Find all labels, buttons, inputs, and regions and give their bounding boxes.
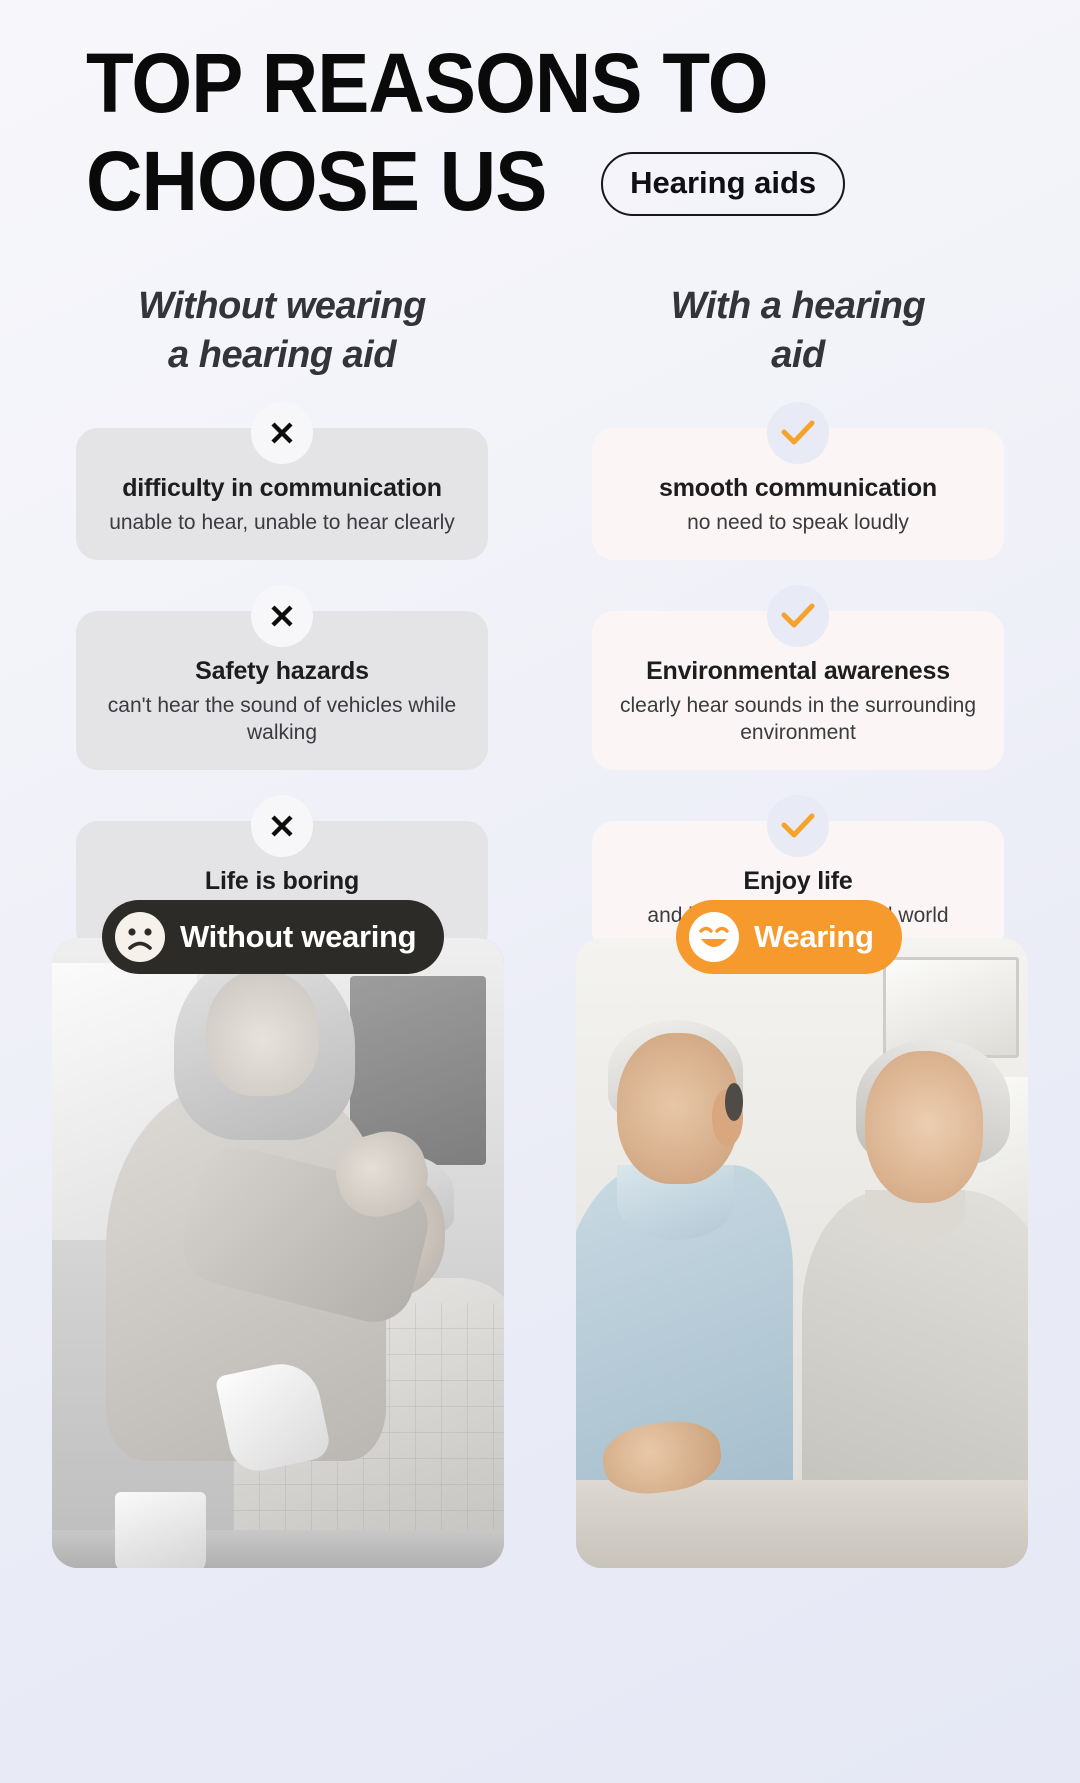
cards-with: smooth communication no need to speak lo… bbox=[592, 428, 1004, 953]
photo-comparison: Without wearing bbox=[0, 938, 1080, 1568]
column-heading-with: With a hearing aid bbox=[592, 282, 1004, 386]
card-without-2[interactable]: Safety hazards can't hear the sound of v… bbox=[76, 611, 488, 770]
card-title: Safety hazards bbox=[98, 655, 466, 687]
column-with-hearing-aid: With a hearing aid smooth communication … bbox=[592, 282, 1004, 953]
column-heading-with-line2: aid bbox=[592, 331, 1004, 380]
badge-label: Without wearing bbox=[180, 919, 416, 955]
column-heading-with-line1: With a hearing bbox=[592, 282, 1004, 331]
column-heading-without: Without wearing a hearing aid bbox=[76, 282, 488, 386]
page-title-line-2: CHOOSE US bbox=[86, 132, 546, 230]
photo-with-hearing-aid bbox=[576, 938, 1028, 1568]
card-title: Enjoy life bbox=[614, 865, 982, 897]
badge-without-wearing[interactable]: Without wearing bbox=[102, 900, 444, 974]
card-title: Life is boring bbox=[98, 865, 466, 897]
infographic-page: TOP REASONS TO CHOOSE US Hearing aids Wi… bbox=[0, 0, 1080, 1783]
card-title: Environmental awareness bbox=[614, 655, 982, 687]
card-title: difficulty in communication bbox=[98, 472, 466, 504]
cross-icon bbox=[251, 402, 313, 464]
page-title-row-2: CHOOSE US Hearing aids bbox=[86, 132, 1080, 230]
happy-face-icon bbox=[688, 911, 740, 963]
column-heading-without-line1: Without wearing bbox=[76, 282, 488, 331]
photo-with-wrapper: Wearing bbox=[576, 938, 1028, 1568]
card-subtitle: unable to hear, unable to hear clearly bbox=[98, 509, 466, 536]
card-with-1[interactable]: smooth communication no need to speak lo… bbox=[592, 428, 1004, 560]
card-with-2[interactable]: Environmental awareness clearly hear sou… bbox=[592, 611, 1004, 770]
card-title: smooth communication bbox=[614, 472, 982, 504]
check-icon bbox=[767, 402, 829, 464]
comparison-columns: Without wearing a hearing aid difficulty… bbox=[0, 282, 1080, 953]
badge-wearing[interactable]: Wearing bbox=[676, 900, 902, 974]
photo-without-wrapper: Without wearing bbox=[52, 938, 504, 1568]
card-subtitle: can't hear the sound of vehicles while w… bbox=[98, 692, 466, 746]
cross-icon bbox=[251, 795, 313, 857]
sad-face-icon bbox=[114, 911, 166, 963]
card-without-1[interactable]: difficulty in communication unable to he… bbox=[76, 428, 488, 560]
page-title-line-1: TOP REASONS TO bbox=[86, 34, 1010, 132]
hearing-aids-badge[interactable]: Hearing aids bbox=[601, 152, 845, 216]
card-subtitle: clearly hear sounds in the surrounding e… bbox=[614, 692, 982, 746]
check-icon bbox=[767, 795, 829, 857]
cards-without: difficulty in communication unable to he… bbox=[76, 428, 488, 953]
card-subtitle: no need to speak loudly bbox=[614, 509, 982, 536]
column-heading-without-line2: a hearing aid bbox=[76, 331, 488, 380]
cross-icon bbox=[251, 585, 313, 647]
badge-label: Wearing bbox=[754, 919, 874, 955]
photo-without-hearing-aid bbox=[52, 938, 504, 1568]
page-header: TOP REASONS TO CHOOSE US Hearing aids bbox=[0, 0, 1080, 230]
column-without-hearing-aid: Without wearing a hearing aid difficulty… bbox=[76, 282, 488, 953]
check-icon bbox=[767, 585, 829, 647]
